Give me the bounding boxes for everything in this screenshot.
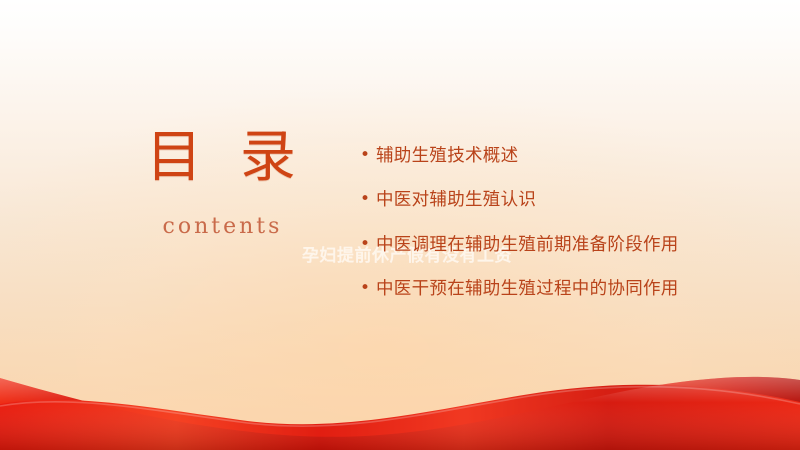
list-item-label: 中医干预在辅助生殖过程中的协同作用: [376, 275, 720, 303]
list-item[interactable]: • 中医调理在辅助生殖前期准备阶段作用: [360, 231, 720, 259]
list-item[interactable]: • 辅助生殖技术概述: [360, 142, 720, 170]
slide-canvas: 目 录 contents 孕妇提前休产假有没有工资 • 辅助生殖技术概述 • 中…: [0, 0, 800, 450]
list-item[interactable]: • 中医干预在辅助生殖过程中的协同作用: [360, 275, 720, 303]
table-of-contents-list: • 辅助生殖技术概述 • 中医对辅助生殖认识 • 中医调理在辅助生殖前期准备阶段…: [360, 142, 720, 303]
list-item-label: 中医调理在辅助生殖前期准备阶段作用: [376, 231, 720, 259]
bullet-icon: •: [360, 186, 376, 214]
bullet-icon: •: [360, 231, 376, 259]
list-item-label: 中医对辅助生殖认识: [376, 186, 720, 214]
list-item[interactable]: • 中医对辅助生殖认识: [360, 186, 720, 214]
bullet-icon: •: [360, 275, 376, 303]
bottom-ribbon-decoration: [0, 358, 800, 450]
title-block: 目 录 contents: [96, 128, 346, 241]
bullet-icon: •: [360, 142, 376, 170]
page-title-en: contents: [96, 214, 346, 240]
list-item-label: 辅助生殖技术概述: [376, 142, 720, 170]
page-title-cn: 目 录: [96, 128, 346, 188]
